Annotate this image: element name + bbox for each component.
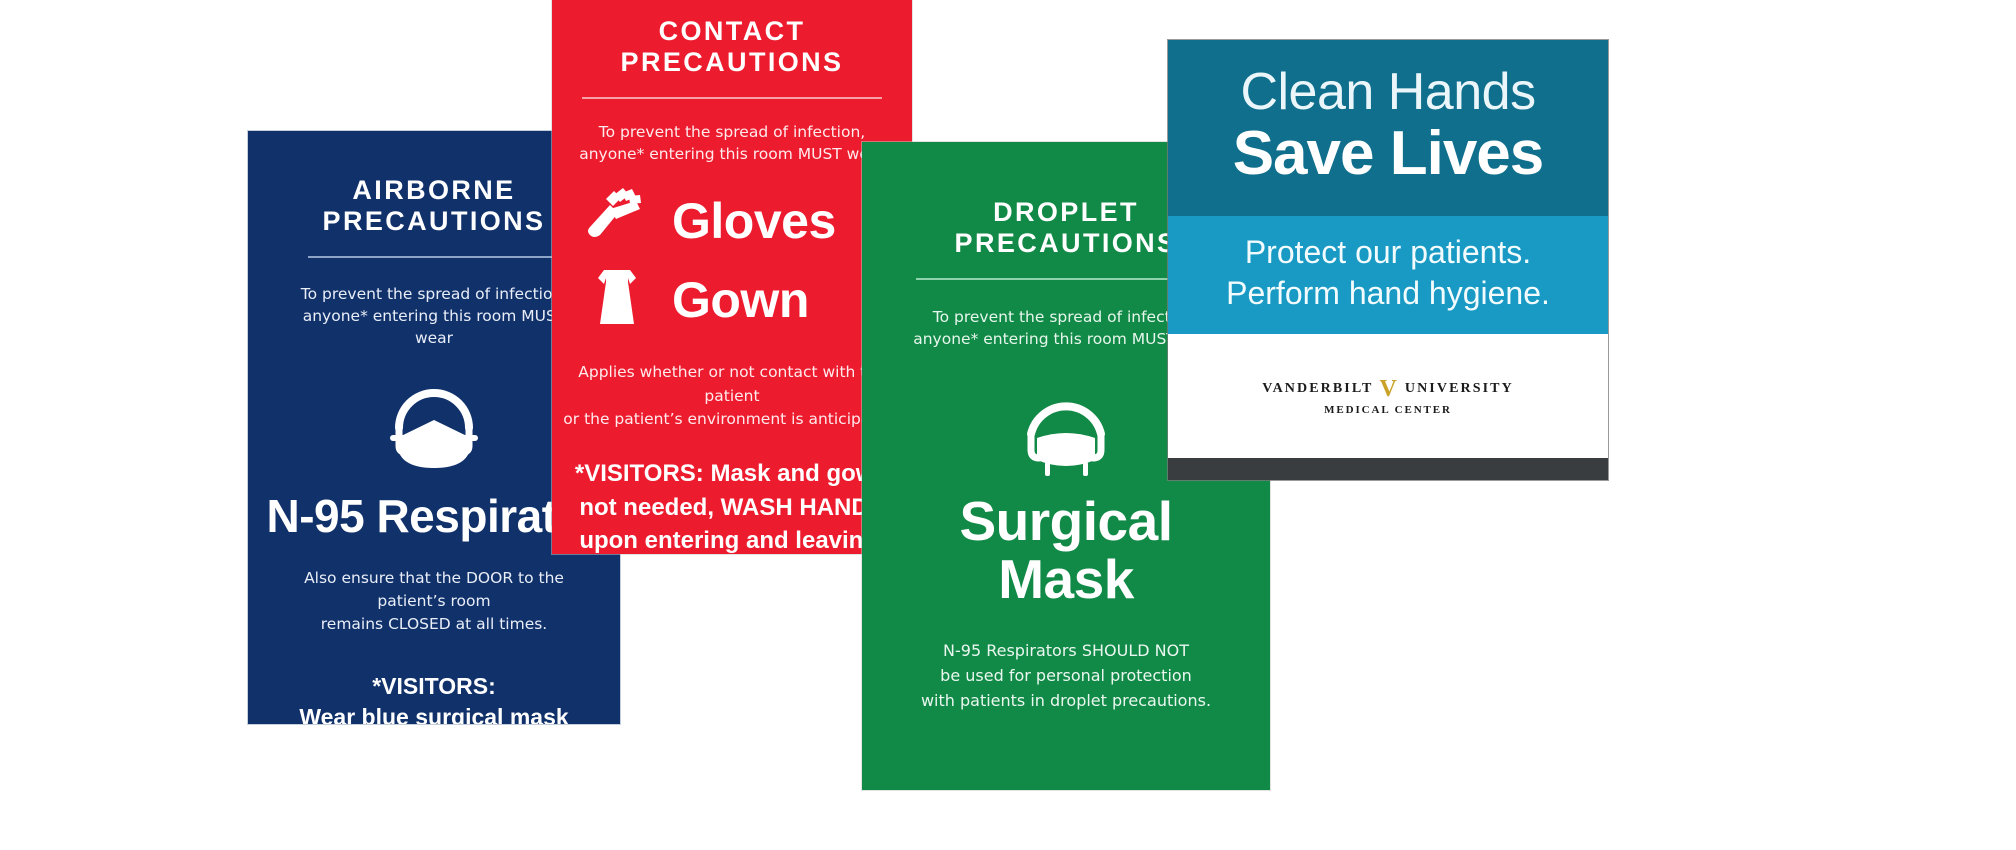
contact-applies-line2: or the patient’s environment is anticipa…	[560, 408, 905, 431]
vanderbilt-logo: VANDERBILT V UNIVERSITY MEDICAL CENTER	[1262, 377, 1514, 416]
droplet-ppe-line1: Surgical	[862, 493, 1270, 551]
airborne-note: Also ensure that the DOOR to the patient…	[279, 567, 589, 637]
droplet-note-line1: N-95 Respirators SHOULD NOT	[891, 639, 1241, 664]
signs-collage: AIRBORNE PRECAUTIONS To prevent the spre…	[0, 0, 2016, 850]
clean-hands-logo-band: VANDERBILT V UNIVERSITY MEDICAL CENTER	[1168, 334, 1608, 458]
airborne-divider	[308, 256, 560, 258]
contact-gloves-label: Gloves	[672, 192, 836, 250]
contact-divider	[582, 97, 882, 99]
droplet-ppe-line2: Mask	[862, 551, 1270, 609]
airborne-subtitle: To prevent the spread of infection, anyo…	[284, 283, 584, 350]
airborne-subtitle-line1: To prevent the spread of infection,	[284, 283, 584, 305]
contact-visitors-line2: not needed, WASH HANDS	[555, 491, 910, 525]
sign-clean-hands-save-lives[interactable]: Clean Hands Save Lives Protect our patie…	[1168, 40, 1608, 480]
clean-hands-headline-light: Clean Hands	[1168, 66, 1608, 119]
airborne-note-line2: remains CLOSED at all times.	[279, 613, 589, 636]
contact-applies-note: Applies whether or not contact with the …	[560, 361, 905, 431]
contact-title-line2: PRECAUTIONS	[552, 47, 912, 78]
vanderbilt-logo-subline: MEDICAL CENTER	[1262, 404, 1514, 416]
contact-visitors: *VISITORS: Mask and gown not needed, WAS…	[555, 457, 910, 554]
gown-icon	[584, 266, 650, 333]
vanderbilt-logo-line: VANDERBILT V UNIVERSITY	[1262, 377, 1514, 401]
contact-subtitle: To prevent the spread of infection, anyo…	[567, 121, 897, 166]
contact-visitors-line1: *VISITORS: Mask and gown	[555, 457, 910, 491]
airborne-visitors-line1: *VISITORS:	[269, 671, 599, 703]
contact-title-line1: CONTACT	[552, 16, 912, 47]
clean-hands-message-band: Protect our patients. Perform hand hygie…	[1168, 216, 1608, 334]
contact-visitors-line3: upon entering and leaving.	[555, 524, 910, 554]
airborne-visitors: *VISITORS: Wear blue surgical mask	[269, 671, 599, 724]
contact-subtitle-line2: anyone* entering this room MUST wear	[567, 143, 897, 165]
droplet-note-line2: be used for personal protection	[891, 664, 1241, 689]
airborne-subtitle-line2: anyone* entering this room MUST wear	[284, 305, 584, 350]
droplet-note-line3: with patients in droplet precautions.	[891, 689, 1241, 714]
clean-hands-message-line1: Protect our patients.	[1168, 232, 1608, 273]
droplet-ppe-label: Surgical Mask	[862, 493, 1270, 609]
sign-contact-precautions[interactable]: CONTACT PRECAUTIONS To prevent the sprea…	[552, 0, 912, 554]
airborne-note-line1: Also ensure that the DOOR to the patient…	[279, 567, 589, 614]
contact-gown-label: Gown	[672, 271, 809, 329]
vanderbilt-wordmark-right: UNIVERSITY	[1405, 381, 1514, 397]
airborne-visitors-line2: Wear blue surgical mask	[269, 702, 599, 724]
clean-hands-headline-bold: Save Lives	[1168, 121, 1608, 186]
clean-hands-headline-band: Clean Hands Save Lives	[1168, 40, 1608, 216]
clean-hands-bottom-bar	[1168, 458, 1608, 480]
contact-title: CONTACT PRECAUTIONS	[552, 16, 912, 78]
contact-subtitle-line1: To prevent the spread of infection,	[567, 121, 897, 143]
clean-hands-message-line2: Perform hand hygiene.	[1168, 273, 1608, 314]
contact-applies-line1: Applies whether or not contact with the …	[560, 361, 905, 408]
vanderbilt-v-icon: V	[1379, 377, 1398, 401]
vanderbilt-wordmark-left: VANDERBILT	[1262, 381, 1373, 397]
droplet-note: N-95 Respirators SHOULD NOT be used for …	[891, 639, 1241, 713]
gloves-icon	[584, 187, 650, 254]
